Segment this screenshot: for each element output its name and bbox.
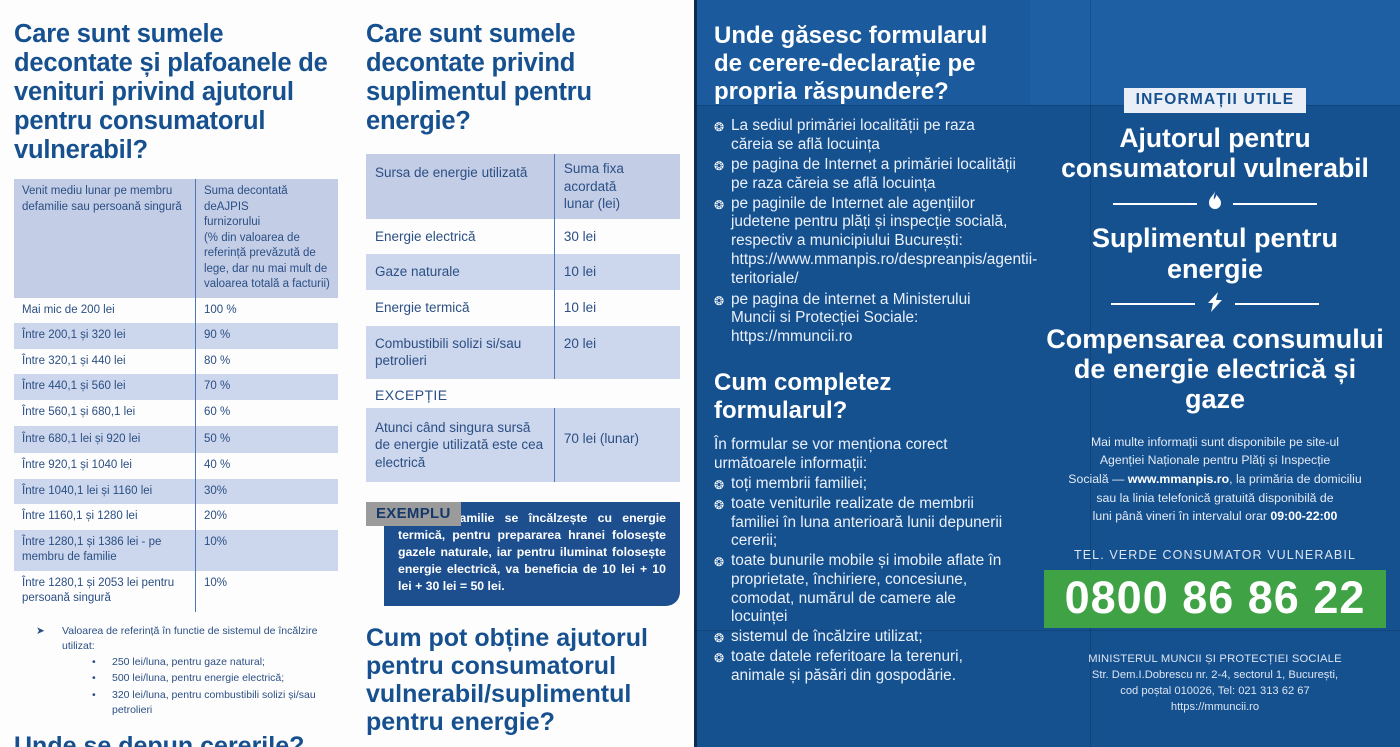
tel-verde-box[interactable]: 0800 86 86 22 xyxy=(1044,570,1386,628)
dot-bullet-icon: • xyxy=(92,671,112,686)
dot-bullet-icon: • xyxy=(92,655,112,670)
list-form-required-info: ❂toți membrii familiei; ❂toate venituril… xyxy=(714,475,1016,686)
list-item-label: toate veniturile realizate de membrii fa… xyxy=(731,495,1016,551)
list-item: ❂pe pagina de internet a Ministerului Mu… xyxy=(714,291,1016,329)
cell-pct: 80 % xyxy=(195,349,338,375)
list-item-label: pe paginile de Internet ale agențiilor j… xyxy=(731,195,1016,251)
header-amount: Suma fixa acordată lunar (lei) xyxy=(554,154,680,219)
table-row: Între 1280,1 și 2053 lei pentru persoană… xyxy=(14,571,338,612)
reference-value-notes: ➤ Valoarea de referință în functie de si… xyxy=(14,624,338,718)
lead-form-info: În formular se vor menționa corect următ… xyxy=(714,435,1016,474)
cell-amount: 20 lei xyxy=(554,326,680,379)
heading-unde-se-depun: Unde se depun cererile? xyxy=(14,732,338,747)
table-row: Gaze naturale 10 lei xyxy=(366,254,680,290)
info-line-2: Agenției Naționale pentru Plăți și Inspe… xyxy=(1100,453,1330,467)
table-row: Între 320,1 și 440 lei 80 % xyxy=(14,349,338,375)
note-intro-text: Valoarea de referință în functie de sist… xyxy=(62,624,338,654)
cell-income: Între 920,1 și 1040 lei xyxy=(14,453,195,479)
flower-bullet-icon: ❂ xyxy=(714,628,731,647)
footer-ministry-name: MINISTERUL MUNCII ȘI PROTECȚIEI SOCIALE xyxy=(1044,652,1386,668)
list-form-locations-cont: ❂pe pagina de internet a Ministerului Mu… xyxy=(714,291,1016,329)
cell-amount: 10 lei xyxy=(554,290,680,326)
cell-amount: 10 lei xyxy=(554,254,680,290)
header-amount-line1: Suma fixa acordată xyxy=(564,161,624,194)
cell-income: Între 440,1 și 560 lei xyxy=(14,374,195,400)
cell-pct: 10% xyxy=(195,530,338,571)
header-income: Venit mediu lunar pe membru defamilie sa… xyxy=(14,179,195,298)
flower-bullet-icon: ❂ xyxy=(714,156,731,194)
cell-income: Între 560,1 și 680,1 lei xyxy=(14,400,195,426)
flower-bullet-icon: ❂ xyxy=(714,552,731,627)
table-header-row: Venit mediu lunar pe membru defamilie sa… xyxy=(14,179,338,298)
list-item: ❂toate bunurile mobile și imobile aflate… xyxy=(714,552,1016,627)
list-item: ❂sistemul de încălzire utilizat; xyxy=(714,628,1016,647)
note-item-text: 500 lei/luna, pentru energie electrică; xyxy=(112,671,284,686)
brochure-page: Care sunt sumele decontate și plafoanele… xyxy=(0,0,1400,747)
flower-bullet-icon: ❂ xyxy=(714,291,731,329)
cell-pct: 40 % xyxy=(195,453,338,479)
cell-source: Energie termică xyxy=(366,290,554,326)
header-amount-line2: lunar (lei) xyxy=(564,196,620,211)
heading-suplimentul-energie: Care sunt sumele decontate privind supli… xyxy=(366,20,680,136)
blue-panel: Unde găsesc formularul de cerere-declara… xyxy=(694,0,1400,747)
list-item: ❂toate datele referitoare la terenuri, a… xyxy=(714,648,1016,686)
table-exception-row: Atunci când singura sursă de energie uti… xyxy=(366,408,680,483)
example-callout: EXEMPLU Dacă o familie se încălzește cu … xyxy=(366,502,680,606)
cell-income: Mai mic de 200 lei xyxy=(14,298,195,324)
list-form-locations: ❂La sediul primăriei localității pe raza… xyxy=(714,117,1016,250)
table-header-row: Sursa de energie utilizată Suma fixa aco… xyxy=(366,154,680,219)
heading-sume-decontate: Care sunt sumele decontate și plafoanele… xyxy=(14,20,338,165)
white-panel: Care sunt sumele decontate și plafoanele… xyxy=(0,0,694,747)
cell-source: Combustibili solizi si/sau petrolieri xyxy=(366,326,554,379)
info-line-4: sau la linia telefonică gratuită disponi… xyxy=(1096,491,1333,505)
cell-pct: 70 % xyxy=(195,374,338,400)
list-item: ❂toți membrii familiei; xyxy=(714,475,1016,494)
tel-verde-label: TEL. VERDE CONSUMATOR VULNERABIL xyxy=(1044,548,1386,562)
list-item-label: sistemul de încălzire utilizat; xyxy=(731,628,923,647)
list-item: ❂pe paginile de Internet ale agențiilor … xyxy=(714,195,1016,251)
example-tag: EXEMPLU xyxy=(366,502,461,526)
cell-exception-amount: 70 lei (lunar) xyxy=(554,408,680,483)
divider-bar-left xyxy=(1113,203,1197,205)
cell-pct: 10% xyxy=(195,571,338,612)
info-schedule-hours: 09:00-22:00 xyxy=(1270,509,1337,523)
cell-pct: 20% xyxy=(195,504,338,530)
table-row: Între 560,1 și 680,1 lei 60 % xyxy=(14,400,338,426)
header-reimb-line3: (% din valoarea de referință prevăzută d… xyxy=(204,232,330,291)
ministry-footer: MINISTERUL MUNCII ȘI PROTECȚIEI SOCIALE … xyxy=(1044,652,1386,716)
divider-lightning xyxy=(1044,291,1386,318)
cell-pct: 50 % xyxy=(195,426,338,454)
tel-verde-number[interactable]: 0800 86 86 22 xyxy=(1044,574,1386,621)
info-line-3a: Socială — xyxy=(1068,472,1127,486)
cell-income: Între 1040,1 lei și 1160 lei xyxy=(14,479,195,505)
header-reimb-line2: furnizorului xyxy=(204,216,260,228)
column-income-thresholds: Care sunt sumele decontate și plafoanele… xyxy=(0,20,352,747)
cell-pct: 60 % xyxy=(195,400,338,426)
note-item-text: 320 lei/luna, pentru combustibili solizi… xyxy=(112,688,338,718)
exception-label: EXCEPȚIE xyxy=(366,379,680,408)
info-line-5a: luni până vineri în intervalul orar xyxy=(1093,509,1271,523)
list-item: • 250 lei/luna, pentru gaze natural; xyxy=(92,655,338,670)
heading-unde-gasesc: Unde găsesc formularul de cerere-declara… xyxy=(714,22,1016,105)
link-mmanpis[interactable]: www.mmanpis.ro xyxy=(1128,472,1229,486)
list-item-label: pe pagina de Internet a primăriei locali… xyxy=(731,156,1016,194)
list-item-label: toți membrii familiei; xyxy=(731,475,867,494)
info-line-1: Mai multe informații sunt disponibile pe… xyxy=(1091,435,1339,449)
info-line-3c: , la primăria de domiciliu xyxy=(1229,472,1362,486)
cell-income: Între 680,1 lei și 920 lei xyxy=(14,426,195,454)
table-row: Mai mic de 200 lei 100 % xyxy=(14,298,338,324)
cell-income: Între 1280,1 și 1386 lei - pe membru de … xyxy=(14,530,195,571)
table-row: Între 440,1 și 560 lei 70 % xyxy=(14,374,338,400)
cell-exception-source: Atunci când singura sursă de energie uti… xyxy=(366,408,554,483)
list-item: ❂pe pagina de Internet a primăriei local… xyxy=(714,156,1016,194)
table-row: Între 1040,1 lei și 1160 lei 30% xyxy=(14,479,338,505)
list-item-label: toate bunurile mobile și imobile aflate … xyxy=(731,552,1016,627)
footer-website[interactable]: https://mmuncii.ro xyxy=(1044,700,1386,716)
header-reimbursement: Suma decontată deAJPIS furnizorului (% d… xyxy=(195,179,338,298)
arrow-bullet-icon: ➤ xyxy=(36,624,62,654)
column-energy-supplement: Care sunt sumele decontate privind supli… xyxy=(352,20,694,747)
list-item-label: La sediul primăriei localității pe raza … xyxy=(731,117,1016,155)
note-intro: ➤ Valoarea de referință în functie de si… xyxy=(14,624,338,654)
flower-bullet-icon: ❂ xyxy=(714,195,731,251)
divider-flame xyxy=(1044,190,1386,217)
divider-bar-right xyxy=(1235,303,1319,305)
table-row: Între 920,1 și 1040 lei 40 % xyxy=(14,453,338,479)
lightning-bolt-icon xyxy=(1205,291,1225,318)
list-item: • 500 lei/luna, pentru energie electrică… xyxy=(92,671,338,686)
flame-icon xyxy=(1207,190,1223,217)
link-anpis-territorial[interactable]: https://www.mmanpis.ro/despreanpis/agent… xyxy=(714,251,1016,289)
list-item-label: toate datele referitoare la terenuri, an… xyxy=(731,648,1016,686)
column-where-to-find-form: Unde găsesc formularul de cerere-declara… xyxy=(694,0,1030,747)
cover-info-paragraph: Mai multe informații sunt disponibile pe… xyxy=(1044,433,1386,526)
cell-income: Între 200,1 și 320 lei xyxy=(14,323,195,349)
divider-bar-right xyxy=(1233,203,1317,205)
cell-pct: 100 % xyxy=(195,298,338,324)
table-row: Între 680,1 lei și 920 lei 50 % xyxy=(14,426,338,454)
heading-cum-pot-obtine: Cum pot obține ajutorul pentru consumato… xyxy=(366,624,680,736)
table-income-reimbursement: Venit mediu lunar pe membru defamilie sa… xyxy=(14,179,338,611)
cover-title-ajutor: Ajutorul pentru consumatorul vulnerabil xyxy=(1044,123,1386,183)
table-energy-supplement: Sursa de energie utilizată Suma fixa aco… xyxy=(366,154,680,482)
dot-bullet-icon: • xyxy=(92,688,112,718)
list-item: ❂toate veniturile realizate de membrii f… xyxy=(714,495,1016,551)
list-item-label: pe pagina de internet a Ministerului Mun… xyxy=(731,291,1016,329)
header-reimb-line1: Suma decontată deAJPIS xyxy=(204,185,288,213)
note-item-text: 250 lei/luna, pentru gaze natural; xyxy=(112,655,265,670)
note-sub-list: • 250 lei/luna, pentru gaze natural; • 5… xyxy=(14,655,338,718)
flower-bullet-icon: ❂ xyxy=(714,495,731,551)
table-exception-label-row: EXCEPȚIE xyxy=(366,379,680,408)
flower-bullet-icon: ❂ xyxy=(714,117,731,155)
divider-bar-left xyxy=(1111,303,1195,305)
header-source: Sursa de energie utilizată xyxy=(366,154,554,219)
cell-amount: 30 lei xyxy=(554,219,680,255)
table-row: Energie electrică 30 lei xyxy=(366,219,680,255)
cell-income: Între 1280,1 și 2053 lei pentru persoană… xyxy=(14,571,195,612)
table-row: Între 1160,1 și 1280 lei 20% xyxy=(14,504,338,530)
flower-bullet-icon: ❂ xyxy=(714,475,731,494)
cell-income: Între 320,1 și 440 lei xyxy=(14,349,195,375)
table-row: Combustibili solizi si/sau petrolieri 20… xyxy=(366,326,680,379)
badge-informatii-utile: INFORMAȚII UTILE xyxy=(1124,88,1307,113)
heading-cum-completez: Cum completez formularul? xyxy=(714,369,1016,425)
cover-title-supliment: Suplimentul pentru energie xyxy=(1044,223,1386,283)
column-cover: INFORMAȚII UTILE Ajutorul pentru consuma… xyxy=(1030,0,1400,747)
cell-source: Gaze naturale xyxy=(366,254,554,290)
table-row: Energie termică 10 lei xyxy=(366,290,680,326)
flower-bullet-icon: ❂ xyxy=(714,648,731,686)
footer-address: Str. Dem.I.Dobrescu nr. 2-4, sectorul 1,… xyxy=(1044,668,1386,684)
footer-postal-phone: cod poștal 010026, Tel: 021 313 62 67 xyxy=(1044,684,1386,700)
list-item: • 320 lei/luna, pentru combustibili soli… xyxy=(92,688,338,718)
link-mmuncii[interactable]: https://mmuncii.ro xyxy=(714,328,1016,347)
cell-pct: 30% xyxy=(195,479,338,505)
table-row: Între 1280,1 și 1386 lei - pe membru de … xyxy=(14,530,338,571)
table-row: Între 200,1 și 320 lei 90 % xyxy=(14,323,338,349)
cover-title-compensare: Compensarea consumului de energie electr… xyxy=(1044,324,1386,415)
cell-pct: 90 % xyxy=(195,323,338,349)
list-item: ❂La sediul primăriei localității pe raza… xyxy=(714,117,1016,155)
cell-source: Energie electrică xyxy=(366,219,554,255)
cell-income: Între 1160,1 și 1280 lei xyxy=(14,504,195,530)
